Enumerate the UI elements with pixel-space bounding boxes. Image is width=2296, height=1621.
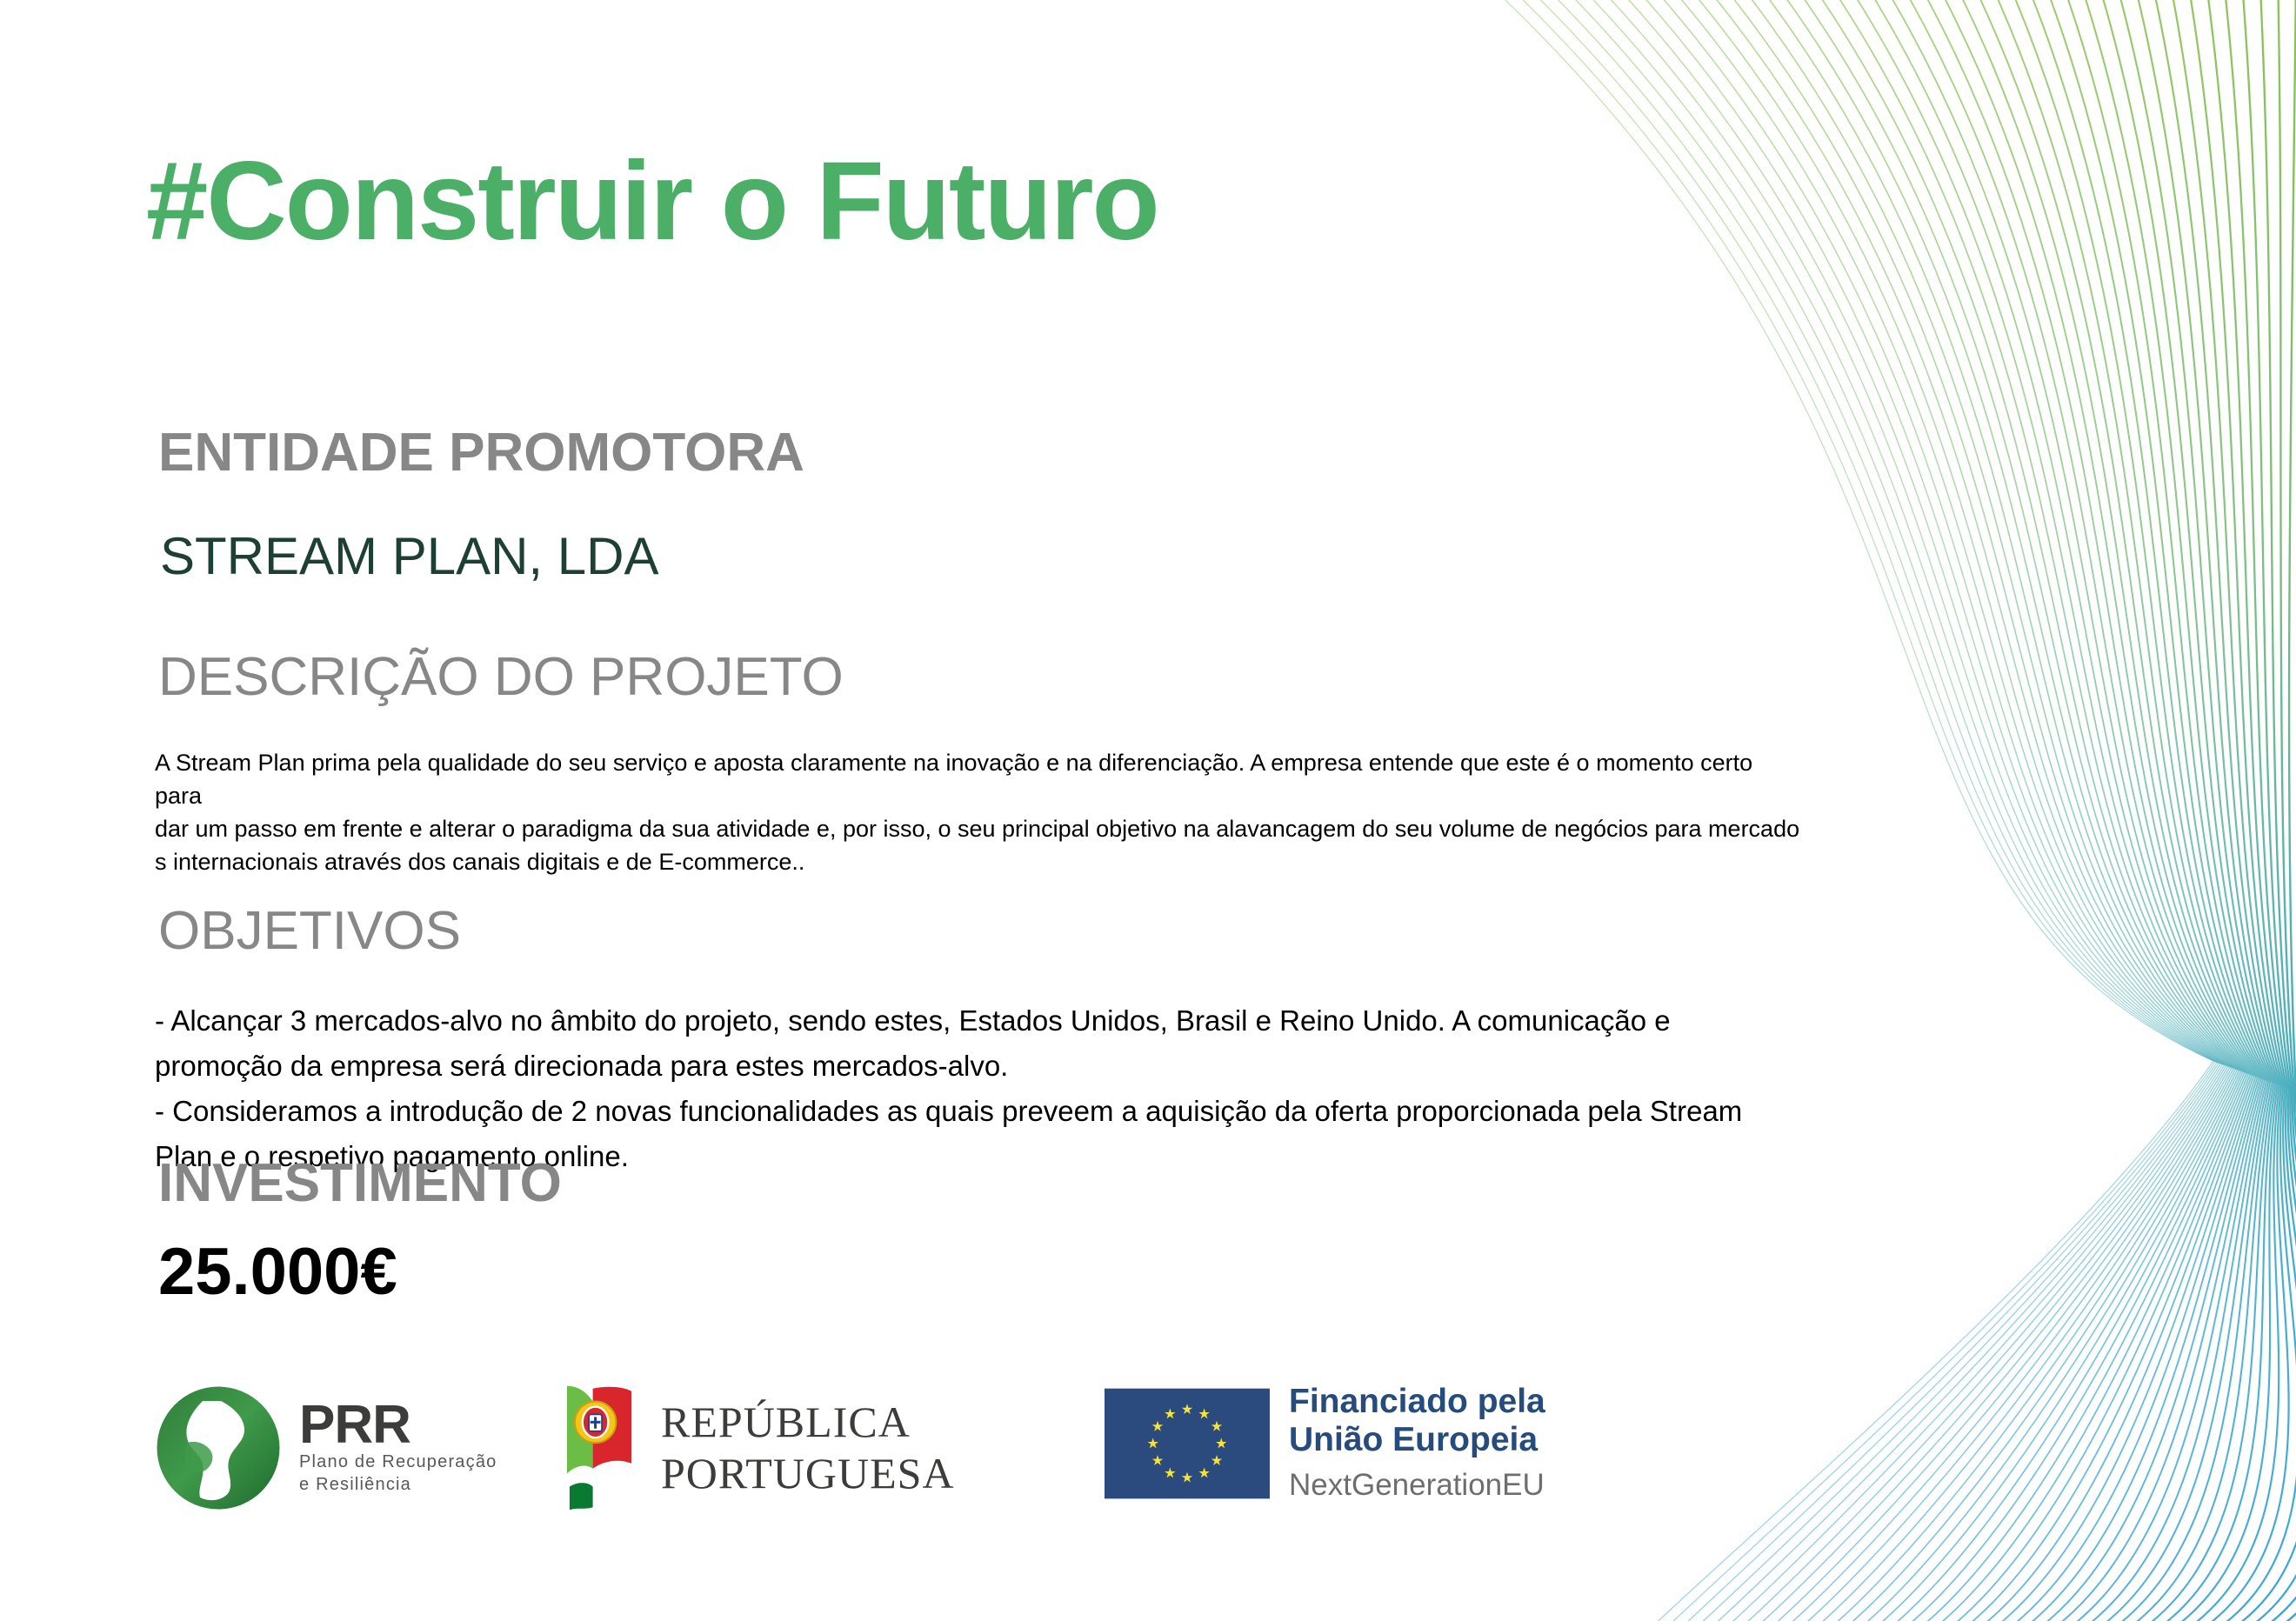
prr-subtitle-line1: Plano de Recuperação [299, 1451, 497, 1473]
section-heading-investimento: INVESTIMENTO [158, 1157, 562, 1211]
wave-line [2099, 0, 2276, 1621]
wave-line [2188, 0, 2296, 1621]
wave-line [2116, 0, 2278, 1621]
description-line-1: A Stream Plan prima pela qualidade do se… [155, 746, 1833, 779]
portuguese-flag-shield-icon [562, 1383, 642, 1513]
wave-line [1829, 0, 2248, 1621]
wave-line [2170, 0, 2296, 1621]
entity-name-value: STREAM PLAN, LDA [160, 530, 659, 583]
page-title: #Construir o Futuro [146, 146, 1158, 257]
wave-line [2206, 0, 2296, 1621]
description-line-3: dar um passo em frente e alterar o parad… [155, 812, 1833, 845]
wave-line [1919, 0, 2258, 1621]
republica-portuguesa-wordmark: REPÚBLICA PORTUGUESA [661, 1397, 955, 1499]
objective-line-1: - Alcançar 3 mercados-alvo no âmbito do … [155, 998, 1781, 1089]
poster-page: #Construir o Futuro ENTIDADE PROMOTORA S… [0, 0, 2296, 1621]
eu-wordmark: Financiado pela União Europeia NextGener… [1289, 1383, 1545, 1504]
wave-line [1846, 0, 2250, 1621]
wave-line [1972, 0, 2263, 1621]
wave-line [2152, 0, 2289, 1621]
section-heading-objetivos: OBJETIVOS [158, 904, 461, 958]
wave-line [2045, 0, 2271, 1621]
wave-line [2289, 0, 2296, 1621]
wave-line [2008, 0, 2266, 1621]
wave-line [1954, 0, 2261, 1621]
wave-line [1937, 0, 2259, 1621]
republica-portuguesa-logo: REPÚBLICA PORTUGUESA [562, 1383, 1049, 1513]
wave-line [1811, 0, 2246, 1621]
wave-line [1775, 0, 2243, 1621]
prr-globe-icon [153, 1383, 284, 1513]
wave-line [2224, 0, 2296, 1621]
eu-flag-icon [1105, 1388, 1270, 1499]
wave-line [1900, 0, 2255, 1621]
objectives-text: - Alcançar 3 mercados-alvo no âmbito do … [155, 998, 1781, 1179]
wave-line [1883, 0, 2254, 1621]
funding-logos-strip: PRR Plano de Recuperação e Resiliência [153, 1383, 1545, 1513]
rp-line1: REPÚBLICA [661, 1397, 955, 1448]
wave-line [2278, 0, 2296, 1621]
wave-line [2134, 0, 2279, 1621]
wave-line [2062, 0, 2272, 1621]
project-description-text: A Stream Plan prima pela qualidade do se… [155, 746, 1833, 878]
rp-line2: PORTUGUESA [661, 1448, 955, 1499]
section-heading-descricao-do-projeto: DESCRIÇÃO DO PROJETO [158, 650, 844, 704]
section-heading-entidade-promotora: ENTIDADE PROMOTORA [158, 426, 804, 480]
wave-line [2026, 0, 2268, 1621]
wave-line [2242, 0, 2296, 1621]
investment-amount-value: 25.000€ [158, 1239, 397, 1305]
wave-line [1792, 0, 2245, 1621]
description-line-4: s internacionais através dos canais digi… [155, 845, 1833, 878]
wave-line [1865, 0, 2252, 1621]
prr-title: PRR [299, 1400, 497, 1451]
prr-logo: PRR Plano de Recuperação e Resiliência [153, 1383, 518, 1513]
prr-wordmark: PRR Plano de Recuperação e Resiliência [299, 1400, 497, 1497]
european-union-funding-logo: Financiado pela União Europeia NextGener… [1105, 1383, 1545, 1504]
eu-nextgeneration-label: NextGenerationEU [1289, 1465, 1545, 1505]
prr-subtitle-line2: e Resiliência [299, 1473, 497, 1496]
poster-content: #Construir o Futuro ENTIDADE PROMOTORA S… [0, 0, 1844, 1621]
eu-line2: União Europeia [1289, 1421, 1545, 1459]
wave-line [1991, 0, 2265, 1621]
wave-line [2260, 0, 2296, 1621]
wave-line [2080, 0, 2274, 1621]
eu-line1: Financiado pela [1289, 1383, 1545, 1421]
description-line-2: para [155, 779, 1833, 812]
